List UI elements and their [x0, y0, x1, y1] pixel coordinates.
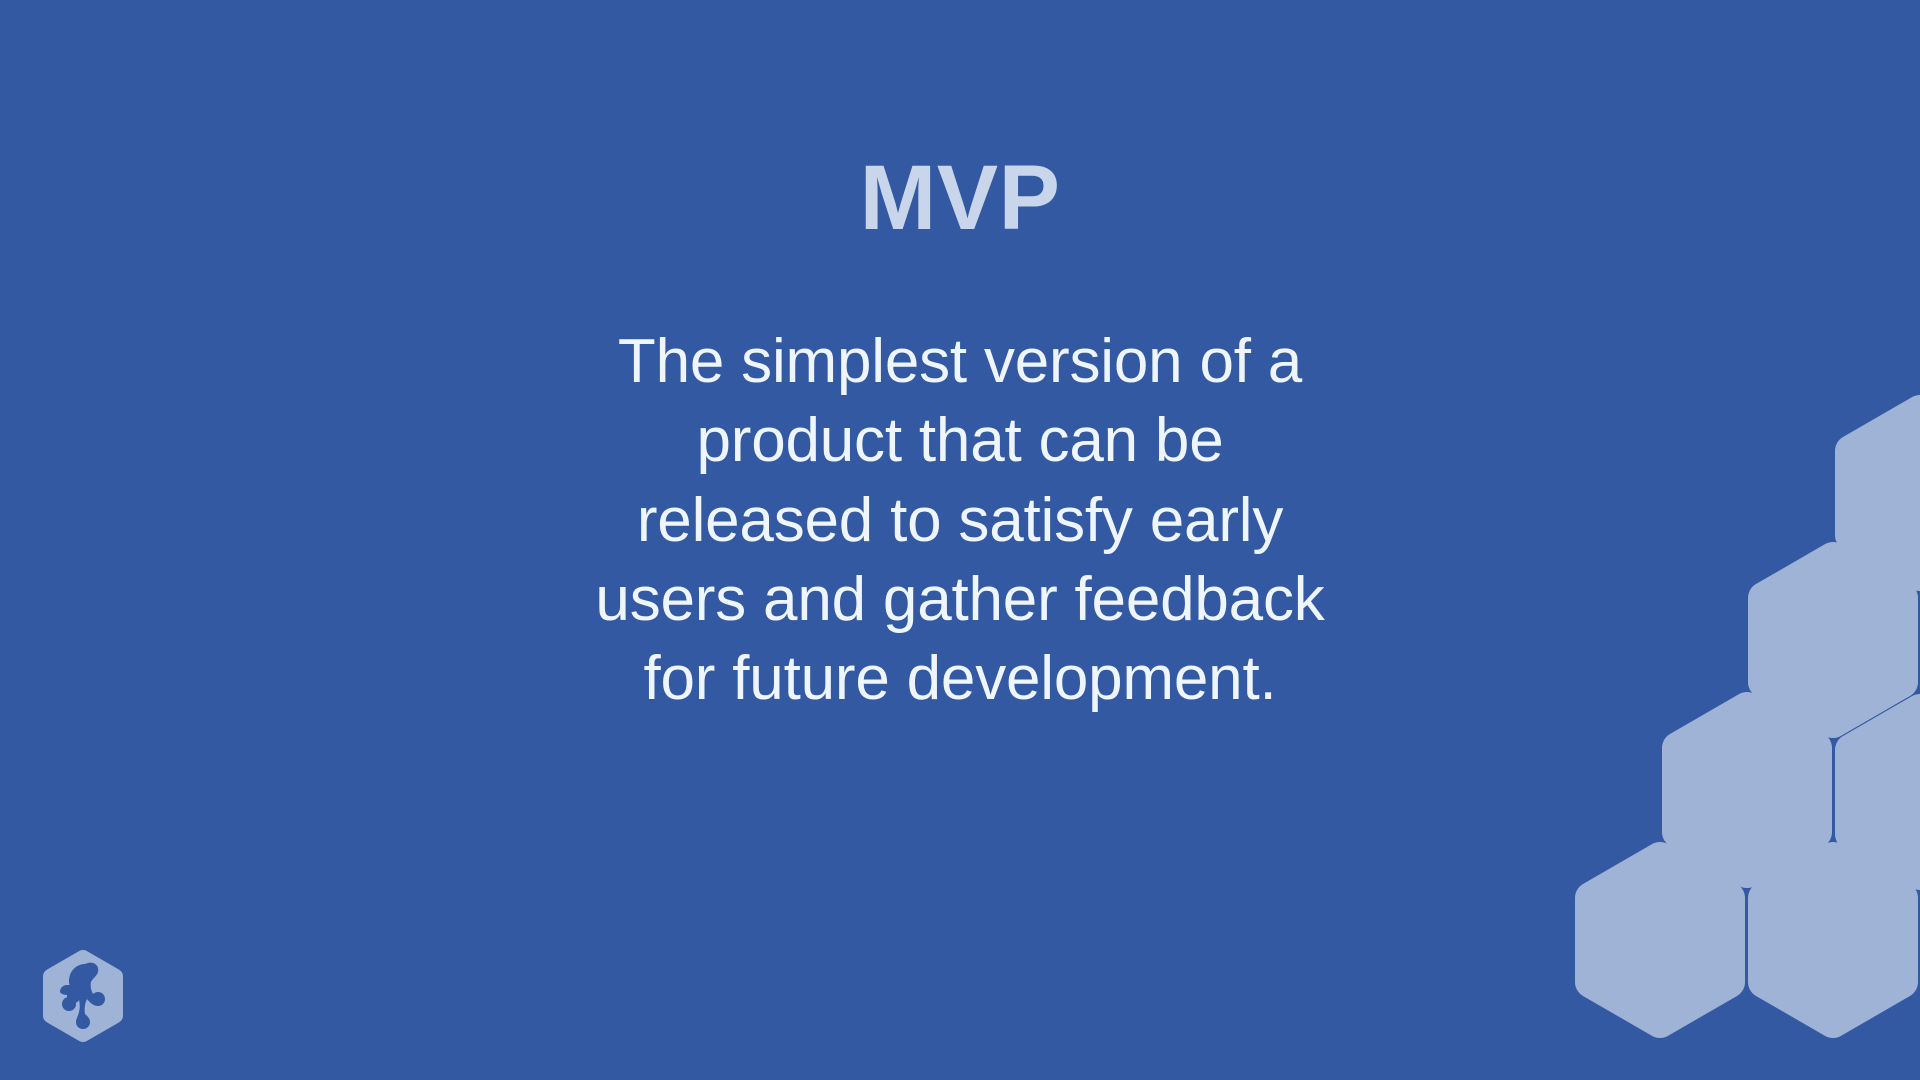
body-line: The simplest version of a — [500, 322, 1420, 401]
slide-body-text: The simplest version of a product that c… — [500, 322, 1420, 719]
body-line: released to satisfy early — [500, 481, 1420, 560]
page-title: MVP — [860, 152, 1061, 244]
body-line: for future development. — [500, 639, 1420, 718]
body-line: users and gather feedback — [500, 560, 1420, 639]
body-line: product that can be — [500, 401, 1420, 480]
slide-canvas: MVP The simplest version of a product th… — [0, 0, 1920, 1080]
slide-content: MVP The simplest version of a product th… — [0, 0, 1920, 1080]
